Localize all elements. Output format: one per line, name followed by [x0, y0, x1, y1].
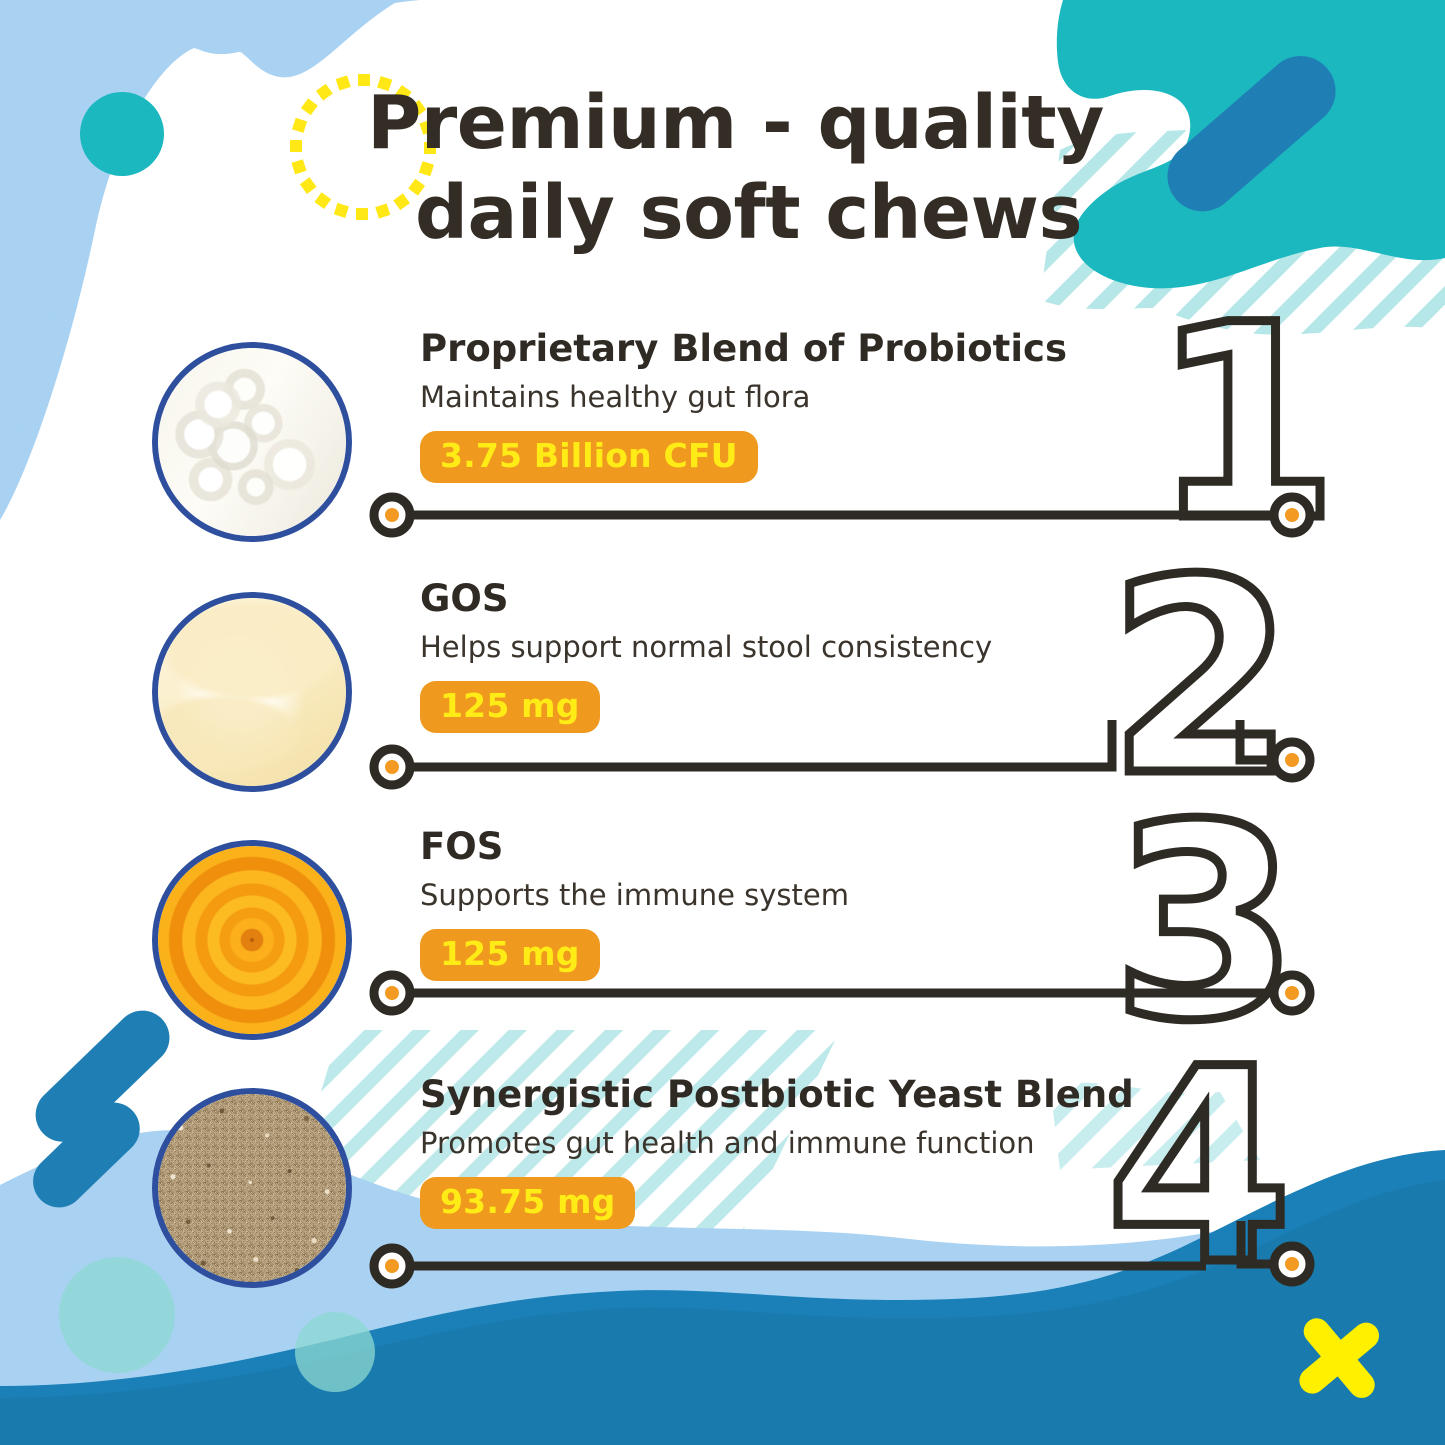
connector-dot-right-1	[1285, 508, 1299, 522]
connector-dot-left-3	[385, 986, 399, 1000]
connector-dot-left-4	[385, 1259, 399, 1273]
connector-line-4	[0, 1066, 1445, 1316]
connector-line-3	[0, 818, 1445, 1068]
connector-dot-left-2	[385, 760, 399, 774]
mint-dot-small	[295, 1312, 375, 1392]
connector-dot-right-2	[1285, 753, 1299, 767]
page-title: Premium - quality daily soft chews	[0, 78, 1445, 259]
ingredient-row-4: Synergistic Postbiotic Yeast Blend Promo…	[0, 1066, 1445, 1316]
connector-line-1	[0, 320, 1445, 570]
page-title-line-2: daily soft chews	[0, 168, 1445, 258]
ingredient-row-1: Proprietary Blend of Probiotics Maintain…	[0, 320, 1445, 570]
connector-dot-left-1	[385, 508, 399, 522]
connector-line-2	[0, 570, 1445, 820]
ingredient-row-3: FOS Supports the immune system 125 mg	[0, 818, 1445, 1068]
connector-dot-right-3	[1285, 986, 1299, 1000]
ingredient-row-2: GOS Helps support normal stool consisten…	[0, 570, 1445, 820]
infographic-canvas: Premium - quality daily soft chews Propr…	[0, 0, 1445, 1445]
page-title-line-1: Premium - quality	[0, 78, 1445, 168]
connector-dot-right-4	[1285, 1257, 1299, 1271]
